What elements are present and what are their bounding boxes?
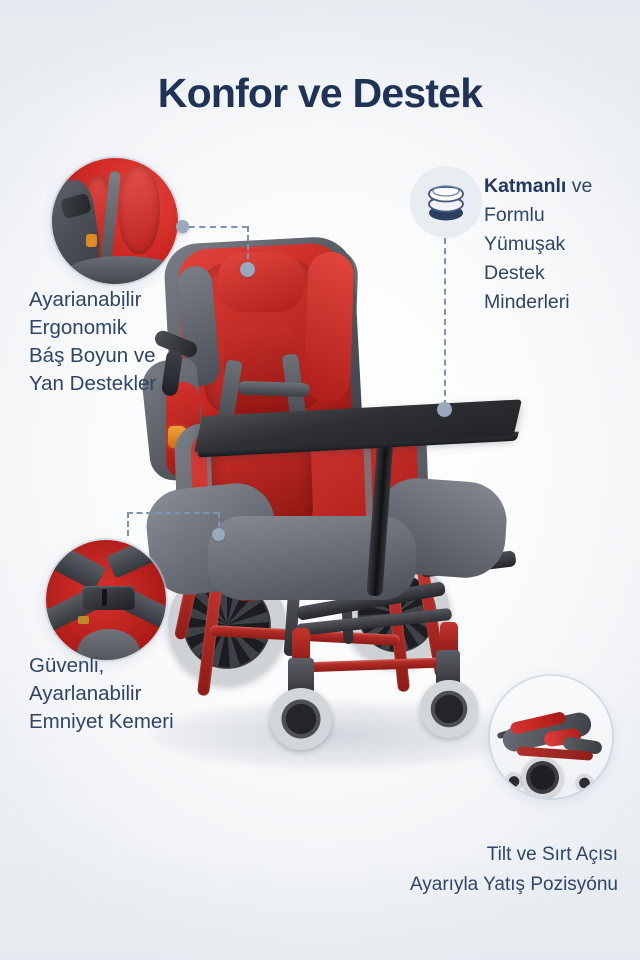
headrest-closeup-art [52, 158, 178, 284]
callout-line: Destek [484, 259, 592, 288]
layered-cushion-stack-icon [410, 166, 482, 238]
callout-line: Emniyet Kemeri [29, 708, 174, 736]
callout-line: Yan Destekler [29, 370, 156, 398]
callout-line: Güvenli, [29, 652, 174, 680]
headrest-pad [218, 252, 304, 312]
callout-cushions: Katmanlı ve Formlu Yümuşak Destek Minder… [484, 172, 592, 317]
product-image [120, 230, 540, 810]
callout-line: Ergonomik [29, 314, 156, 342]
callout-belt: Güvenli, Ayarlanabilir Emniyet Kemeri [29, 652, 174, 736]
reclined-wheelchair-art [490, 676, 612, 798]
callout-line: Ayarlanabilir [29, 680, 174, 708]
callout-bold-word: Katmanlı [484, 175, 566, 197]
front-caster-right [420, 680, 478, 738]
inset-harness-buckle-closeup [46, 540, 166, 660]
connector-dot-cushions-product [437, 402, 452, 417]
callout-line: Ayarianabịlir [29, 286, 156, 314]
inset-reclined-wheelchair-closeup [490, 676, 612, 798]
callout-line-rest: ve [566, 175, 592, 197]
front-caster-left [270, 688, 332, 750]
callout-line: Minderleri [484, 288, 592, 317]
callout-head-support: Ayarianabịlir Ergonomik Báş Boyun ve Yan… [29, 286, 156, 398]
connector-dot-head-product [240, 262, 255, 277]
callout-line: Ayarıyla Yatış Pozisyónu [410, 870, 618, 900]
callout-line: Tilt ve Sırt Açısı [410, 840, 618, 870]
harness-buckle-art [46, 540, 166, 660]
callout-line: Formlu [484, 201, 592, 230]
page-title: Konfor ve Destek [0, 70, 640, 117]
callout-tilt: Tilt ve Sırt Açısı Ayarıyla Yatış Pozisy… [410, 840, 618, 900]
lateral-support-right [303, 251, 354, 403]
harness-chest-strap [238, 381, 310, 398]
callout-line: Báş Boyun ve [29, 342, 156, 370]
callout-line: Katmanlı ve [484, 172, 592, 201]
connector-line-cushions [444, 238, 446, 406]
callout-line: Yümuşak [484, 230, 592, 259]
frame-tube [302, 658, 442, 673]
connector-dot-belt-product [212, 528, 225, 541]
connector-line-belt [127, 512, 129, 536]
inset-headrest-closeup [52, 158, 178, 284]
connector-line-belt [127, 512, 219, 514]
poster-root: Konfor ve Destek [0, 0, 640, 960]
connector-dot-head-inset [176, 220, 189, 233]
